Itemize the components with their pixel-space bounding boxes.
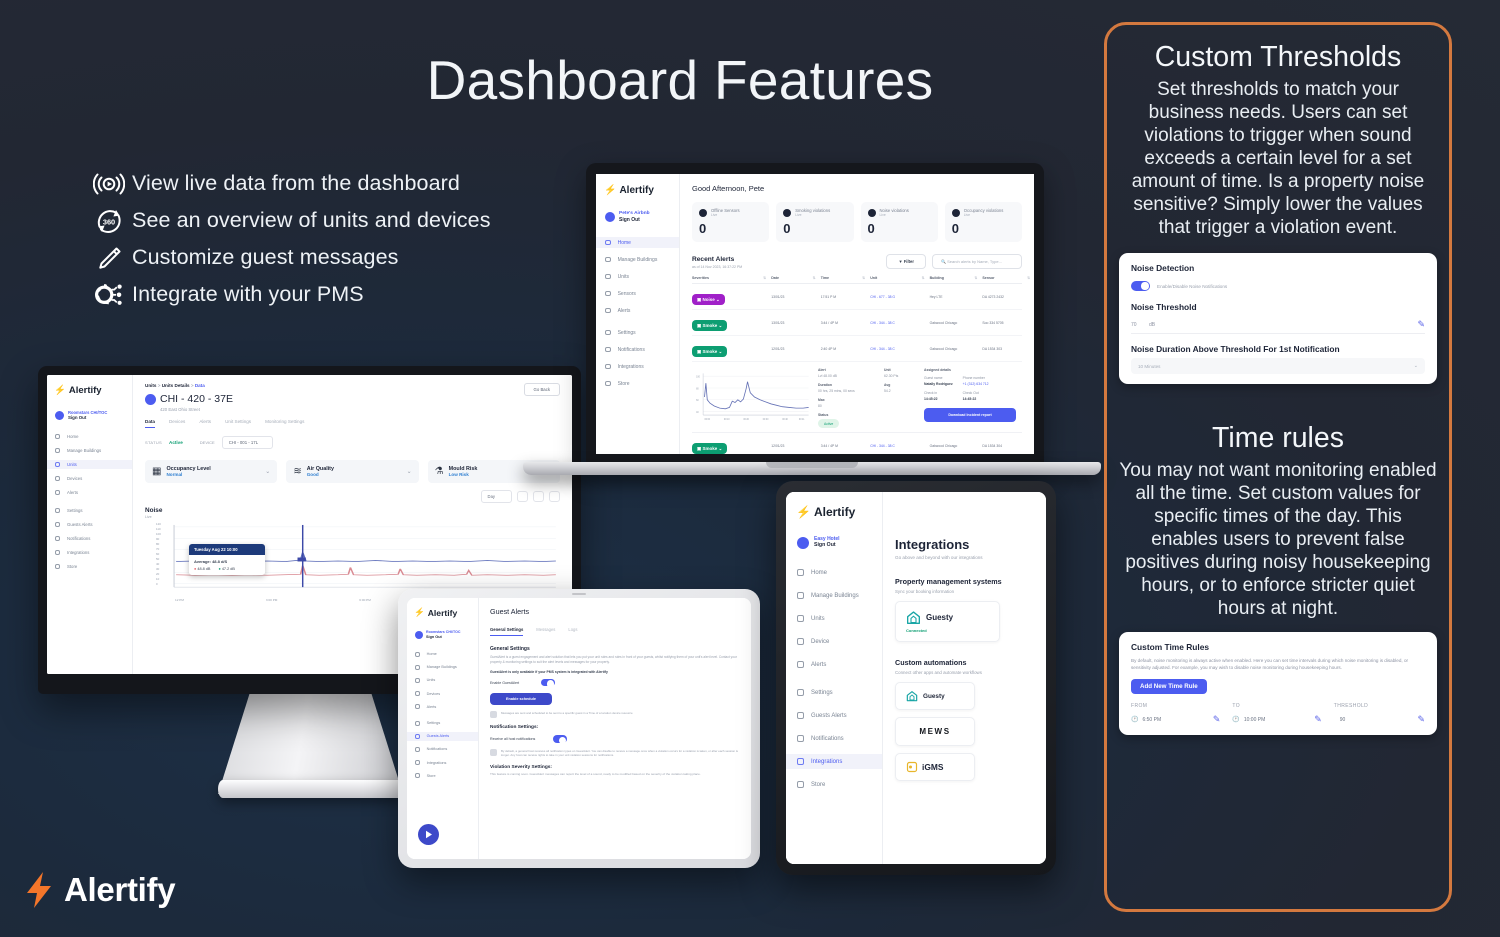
edit-threshold-row-icon[interactable]: ✎ (1417, 714, 1425, 725)
live-broadcast-icon (86, 171, 132, 197)
list-item: Customize guest messages (86, 239, 556, 276)
sign-out-link[interactable]: Sign Out (426, 635, 460, 639)
sidebar-item-units[interactable]: Units (596, 271, 679, 282)
nav-guests-alerts-icon (797, 712, 804, 719)
tab-monitoring-settings[interactable]: Monitoring Settings (265, 419, 304, 428)
sidebar-item-label: Notifications (427, 747, 448, 751)
table-row[interactable]: ▣ Smoke ⌄13/01/233:44 / 4P MCHI - 344 - … (692, 310, 1022, 336)
sort-icon[interactable]: ⇅ (974, 276, 977, 280)
sort-icon[interactable]: ⇅ (922, 276, 925, 280)
sidebar-item-notifications[interactable]: Notifications (596, 344, 679, 355)
sidebar-item-device[interactable]: Device (786, 634, 882, 649)
status-badge: ▣ Smoke ⌄ (692, 320, 727, 331)
kpi-card-occupancy-violations: Occupancy violationsLive0 (945, 202, 1022, 242)
nav-units-icon (415, 678, 420, 683)
sidebar-item-manage-buildings[interactable]: Manage Buildings (47, 446, 132, 455)
avatar (415, 631, 423, 639)
sidebar-item-manage-buildings[interactable]: Manage Buildings (786, 588, 882, 603)
device-select[interactable]: CHI - 001 - 17L (222, 436, 273, 449)
list-item-label: See an overview of units and devices (132, 208, 491, 233)
tab-general-settings[interactable]: General Settings (490, 627, 523, 636)
sidebar-item-label: Store (811, 782, 825, 788)
camera-icon (572, 593, 586, 595)
sidebar-item-manage-buildings[interactable]: Manage Buildings (407, 663, 478, 672)
unit-address: 420 East Ohio Street (160, 407, 233, 412)
metric-value: Good (307, 472, 402, 477)
sidebar-item-label: Integrations (67, 550, 89, 555)
bolt-icon: ⚡ (796, 505, 811, 519)
nav-devices-icon (55, 476, 60, 481)
kpi-card-offline-sensors: Offline SensorsLive0 (692, 202, 769, 242)
chart-tooltip: Tuesday Aug 22 10:00 Average: 48.8 d/S ●… (189, 544, 265, 575)
table-header: Severities⇅Date⇅Time⇅Unit⇅Building⇅Senso… (692, 276, 1022, 284)
section-timestamp: as of 14 Nov 2023, 16:37:22 PM (692, 265, 742, 269)
nav-integrations-icon (55, 550, 60, 555)
chart-y-axis: 1201101009080706050403020100 (156, 522, 161, 586)
nav-alerts-icon (605, 308, 611, 314)
nav-home-icon (415, 652, 420, 657)
search-input[interactable]: 🔍 Search alerts by Name, Type... (932, 254, 1022, 269)
cell-unit[interactable]: CHI - 344 - 38 C (870, 321, 929, 325)
breadcrumb-item[interactable]: Units Details (162, 383, 190, 388)
host-notifications-toggle[interactable] (553, 735, 567, 742)
sidebar-item-store[interactable]: Store (596, 378, 679, 389)
nav-alerts-icon (797, 661, 804, 668)
page-subtitle: Go above and beyond with our integration… (895, 555, 1034, 560)
list-item: Integrate with your PMS (86, 276, 556, 313)
integrations-screen-ui: ⚡ Alertify Easy Hotel Sign Out HomeManag… (786, 492, 1046, 864)
severity-heading: Violation Severity Settings: (490, 765, 740, 770)
sidebar-item-label: Manage Buildings (427, 665, 457, 669)
integration-status: Connected (906, 628, 989, 633)
info-icon (490, 749, 497, 756)
chart-title: Noise (145, 507, 560, 514)
sort-icon[interactable]: ⇅ (763, 276, 766, 280)
integration-card-mews[interactable]: MEWS (895, 717, 975, 746)
sidebar-item-settings[interactable]: Settings (596, 327, 679, 338)
noise-detection-heading: Noise Detection (1131, 263, 1425, 273)
sidebar-item-label: Notifications (67, 536, 90, 541)
nav-manage-buildings-icon (605, 257, 611, 263)
cell-time: 3:44 / 4P M (821, 321, 871, 325)
guesty-house-icon (906, 610, 921, 625)
host-notifications-label: Receive all host notifications (490, 737, 535, 741)
sidebar-item-label: Integrations (427, 761, 447, 765)
avatar (605, 212, 615, 222)
svg-text:60: 60 (696, 400, 699, 402)
section-title: Recent Alerts (692, 256, 742, 263)
nav-manage-buildings-icon (797, 592, 804, 599)
sidebar-item-alerts[interactable]: Alerts (47, 488, 132, 497)
notification-settings-heading: Notification Settings: (490, 725, 740, 730)
y-tick: 20 (156, 572, 161, 576)
sidebar-item-home[interactable]: Home (407, 650, 478, 659)
breadcrumb[interactable]: Units > Units Details > Data (145, 383, 233, 388)
sidebar-item-label: Guests Alerts (811, 713, 847, 719)
custom-time-rules-card: Custom Time Rules By default, noise moni… (1119, 632, 1437, 735)
sidebar-item-label: Settings (427, 721, 441, 725)
sidebar-item-label: Notifications (811, 736, 844, 742)
right-feature-panel: Custom Thresholds Set thresholds to matc… (1104, 22, 1452, 912)
threshold-value[interactable]: 90 (1340, 717, 1346, 723)
go-back-button[interactable]: Go Back (524, 383, 560, 396)
sidebar-item-label: Manage Buildings (67, 448, 101, 453)
metric-card-occupancy-level[interactable]: ▦Occupancy LevelNormal⌄ (145, 460, 277, 483)
sidebar-item-label: Notifications (618, 347, 645, 353)
sort-icon[interactable]: ⇅ (1027, 276, 1030, 280)
nav-units-icon (55, 462, 60, 467)
sidebar-item-label: Units (811, 616, 825, 622)
integration-name: Guesty (923, 693, 945, 700)
cell-unit[interactable]: CHI - 344 - 38 C (870, 444, 929, 448)
y-tick: 90 (156, 537, 161, 541)
brand-name: Alertify (64, 871, 175, 909)
enable-guestalert-toggle[interactable] (541, 679, 555, 686)
cell-building: Oakwood Chicago (930, 347, 983, 351)
tablet-guest-alerts-device: ⚡ Alertify Roomstars CHI/TOC Sign Out Ho… (398, 589, 760, 868)
sidebar-item-alerts[interactable]: Alerts (407, 702, 478, 711)
cell-building: Oakwood Chicago (930, 321, 983, 325)
clock-icon: 🕐 (1131, 716, 1138, 723)
sidebar-item-integrations[interactable]: Integrations (786, 754, 882, 769)
nav-guests-alerts-icon (415, 734, 420, 739)
mould-risk-icon: ⚗ (435, 466, 444, 477)
nav-units-icon (797, 615, 804, 622)
integration-card-guesty-pms[interactable]: Guesty Connected (895, 601, 1000, 642)
tab-data[interactable]: Data (145, 419, 155, 428)
sidebar-item-guests-alerts[interactable]: Guests Alerts (786, 708, 882, 723)
sidebar-item-notifications[interactable]: Notifications (786, 731, 882, 746)
list-item-label: Customize guest messages (132, 245, 399, 270)
sort-icon[interactable]: ⇅ (813, 276, 816, 280)
tooltip-high: 47.2 dB (222, 567, 235, 571)
clock-icon: 🕐 (1232, 716, 1239, 723)
kpi-card-noise-violations: Noise violationsLive0 (861, 202, 938, 242)
sort-icon[interactable]: ⇅ (862, 276, 865, 280)
cell-sensor: DA 4273 2432 (982, 295, 1034, 299)
nav-home-icon (55, 434, 60, 439)
bolt-icon (22, 870, 56, 910)
brand-name: Alertify (619, 185, 653, 196)
cell-time: 3:44 / 4P M (821, 444, 871, 448)
sign-out-link[interactable]: Sign Out (68, 415, 107, 420)
sidebar-item-settings[interactable]: Settings (407, 719, 478, 728)
sidebar-item-store[interactable]: Store (407, 771, 478, 780)
table-row[interactable]: ▣ Noise ⌄13/01/2317:51 P MCHI - 677 - 38… (692, 284, 1022, 310)
y-tick: 110 (156, 527, 161, 531)
account-name: Roomstars CHI/TOC (426, 630, 460, 635)
sidebar-item-guests-alerts[interactable]: Guests Alerts (407, 732, 478, 741)
chevron-down-icon[interactable]: ⌄ (407, 468, 412, 475)
time-rules-heading: Custom Time Rules (1131, 642, 1425, 652)
integration-name: Guesty (926, 613, 953, 622)
y-tick: 0 (156, 582, 161, 586)
status-badge: ▣ Noise ⌄ (692, 294, 725, 305)
kpi-sub: Live (964, 213, 1004, 217)
integration-card-igms[interactable]: iGMS (895, 753, 975, 781)
chart-legend: Live (145, 515, 560, 519)
chevron-down-icon: ⌄ (1414, 363, 1418, 369)
sidebar-item-label: Devices (67, 476, 82, 481)
sidebar-item-label: Alerts (67, 490, 78, 495)
sidebar-item-integrations[interactable]: Integrations (596, 361, 679, 372)
integration-name: MEWS (919, 727, 950, 736)
sidebar-item-home[interactable]: Home (47, 432, 132, 441)
sidebar-item-settings[interactable]: Settings (47, 506, 132, 515)
col-to: TO (1232, 703, 1333, 709)
nav-settings-icon (415, 721, 420, 726)
nav-alerts-icon (415, 704, 420, 709)
table-row[interactable]: ▣ Smoke ⌄12/01/233:44 / 4P MCHI - 344 - … (692, 433, 1022, 454)
calendar-icon[interactable] (517, 491, 528, 502)
sidebar-item-units[interactable]: Units (786, 611, 882, 626)
brand-name: Alertify (814, 505, 855, 519)
time-rules-body: By default, noise monitoring is always a… (1131, 657, 1425, 671)
bolt-icon: ⚡ (604, 185, 616, 196)
chevron-down-icon[interactable]: ⌄ (265, 468, 270, 475)
kpi-sub: Live (711, 213, 740, 217)
nav-integrations-icon (415, 760, 420, 765)
svg-text:360: 360 (103, 217, 115, 226)
nav-store-icon (605, 381, 611, 387)
noise-notifications-toggle[interactable] (1131, 281, 1150, 291)
edit-from-icon[interactable]: ✎ (1213, 714, 1221, 725)
kpi-value: 0 (868, 221, 931, 236)
brand-name: Alertify (69, 385, 102, 396)
noise-threshold-value[interactable]: 70 (1131, 322, 1137, 328)
sidebar-item-label: Alerts (618, 308, 631, 314)
nav-home-icon (797, 569, 804, 576)
list-item-label: Integrate with your PMS (132, 282, 364, 307)
cell-sensor: DA 1534 304 (982, 444, 1034, 448)
kpi-icon (783, 209, 791, 217)
tab-unit-settings[interactable]: Unit Settings (225, 419, 251, 428)
table-row[interactable]: ▣ Smoke ⌄12/01/232:40 4P MCHI - 344 - 38… (692, 336, 1022, 362)
metric-card-air-quality[interactable]: ≋Air QualityGood⌄ (286, 460, 418, 483)
column-header-time[interactable]: Time⇅ (821, 276, 871, 280)
occupancy-icon: ▦ (152, 466, 161, 477)
sidebar-item-label: Alerts (427, 705, 437, 709)
sidebar-item-home[interactable]: Home (596, 237, 679, 248)
svg-text:00:10: 00:10 (724, 419, 730, 421)
air-quality-icon: ≋ (293, 466, 301, 477)
unit-avatar (145, 394, 156, 405)
laptop-screen-ui: ⚡ Alertify Pete's Airbnb Sign Out HomeMa… (596, 174, 1034, 454)
sidebar-item-label: Integrations (618, 364, 644, 370)
y-tick: 30 (156, 567, 161, 571)
igms-icon (906, 761, 918, 773)
sidebar-item-devices[interactable]: Devices (47, 474, 132, 483)
sidebar-item-manage-buildings[interactable]: Manage Buildings (596, 254, 679, 265)
svg-text:00:00: 00:00 (704, 419, 710, 421)
x-tick: 3:00 PM (266, 598, 278, 602)
alert-detail-chart: 100806040 00:0000:1000:2000:3000:4000:41 (692, 367, 810, 427)
nav-alerts-icon (55, 490, 60, 495)
noise-detection-card: Noise Detection Enable/Disable Noise Not… (1119, 253, 1437, 384)
enable-schedule-button[interactable]: Enable schedule (490, 693, 552, 705)
avatar (797, 537, 809, 549)
tab-devices[interactable]: Devices (169, 419, 185, 428)
tab-logs[interactable]: Logs (568, 627, 577, 636)
sidebar-item-store[interactable]: Store (786, 777, 882, 792)
cell-unit[interactable]: CHI - 677 - 38 G (870, 295, 929, 299)
page-title: CHI - 420 - 37E (160, 393, 233, 405)
laptop-hinge-notch (766, 462, 858, 468)
enable-guestalert-label: Enable GuestAlert (490, 681, 519, 685)
sidebar-item-store[interactable]: Store (47, 562, 132, 571)
page-title: Dashboard Features (310, 48, 1050, 112)
sidebar-item-home[interactable]: Home (786, 565, 882, 580)
guest-alerts-screen-ui: ⚡ Alertify Roomstars CHI/TOC Sign Out Ho… (407, 598, 751, 859)
kpi-value: 0 (783, 221, 846, 236)
360-overview-icon: 360 (86, 207, 132, 235)
sidebar-item-sensors[interactable]: Sensors (596, 288, 679, 299)
status-badge: Active (169, 440, 183, 445)
nav-notifications-icon (605, 347, 611, 353)
tab-alerts[interactable]: Alerts (199, 419, 211, 428)
y-tick: 10 (156, 577, 161, 581)
svg-text:00:30: 00:30 (763, 419, 769, 421)
kpi-icon (699, 209, 707, 217)
sidebar-item-label: Integrations (811, 759, 842, 765)
severity-body: This feature is coming soon. GuestAlert … (490, 772, 740, 777)
sidebar-item-label: Guests Alerts (427, 734, 450, 738)
time-from-value[interactable]: 6:50 PM (1142, 717, 1161, 723)
nav-settings-icon (605, 330, 611, 336)
svg-text:80: 80 (696, 388, 699, 390)
section-body-time-rules: You may not want monitoring enabled all … (1119, 459, 1437, 620)
bolt-icon: ⚡ (414, 607, 425, 618)
sidebar-item-alerts[interactable]: Alerts (596, 305, 679, 316)
sidebar-item-label: Sensors (618, 291, 636, 297)
sidebar-item-notifications[interactable]: Notifications (407, 745, 478, 754)
breadcrumb-item[interactable]: Data (195, 383, 205, 388)
nav-settings-icon (797, 689, 804, 696)
kpi-card-smoking-violations: Smoking violationsLive0 (776, 202, 853, 242)
sidebar-item-label: Manage Buildings (618, 257, 658, 263)
cell-date: 12/01/23 (771, 347, 821, 351)
y-tick: 40 (156, 562, 161, 566)
noise-duration-select[interactable]: 10 Minutes ⌄ (1131, 358, 1425, 374)
tablet-integrations-device: ⚡ Alertify Easy Hotel Sign Out HomeManag… (776, 481, 1056, 875)
col-threshold: THRESHOLD (1334, 703, 1425, 709)
list-item-label: View live data from the dashboard (132, 171, 460, 196)
sidebar-item-label: Units (427, 678, 436, 682)
sign-out-link[interactable]: Sign Out (814, 542, 840, 548)
noise-notifications-label: Enable/Disable Noise Notifications (1157, 284, 1227, 289)
pms-note: GuestAlert is only available if your PMS… (490, 670, 740, 674)
kpi-sub: Live (880, 213, 909, 217)
sidebar-item-guests-alerts[interactable]: Guests Alerts (47, 520, 132, 529)
download-icon[interactable] (549, 491, 560, 502)
sidebar-item-integrations[interactable]: Integrations (47, 548, 132, 557)
range-select[interactable]: Day (481, 490, 512, 503)
column-header-sensor[interactable]: Sensor⇅ (982, 276, 1034, 280)
nav-devices-icon (415, 691, 420, 696)
device-label: DEVICE (200, 440, 215, 445)
sidebar-item-label: Home (67, 434, 78, 439)
sidebar-item-settings[interactable]: Settings (786, 685, 882, 700)
download-report-button[interactable]: Download Incident report (924, 408, 1016, 422)
column-header-building[interactable]: Building⇅ (930, 276, 983, 280)
sidebar-item-alerts[interactable]: Alerts (786, 657, 882, 672)
status-badge: ▣ Smoke ⌄ (692, 443, 727, 454)
integration-name: iGMS (922, 762, 943, 772)
svg-text:100: 100 (696, 377, 700, 379)
general-settings-body: GuestAlert is a guest engagement and ale… (490, 655, 740, 665)
sidebar-item-devices[interactable]: Devices (407, 689, 478, 698)
edit-threshold-icon[interactable]: ✎ (1417, 319, 1425, 330)
breadcrumb-item[interactable]: Units (145, 383, 156, 388)
svg-text:00:41: 00:41 (799, 419, 805, 421)
time-to-value[interactable]: 10:00 PM (1244, 717, 1265, 723)
section-title-time-rules: Time rules (1119, 422, 1437, 455)
column-header-unit[interactable]: Unit⇅ (870, 276, 929, 280)
refresh-icon[interactable] (533, 491, 544, 502)
nav-device-icon (797, 638, 804, 645)
sidebar-item-units[interactable]: Units (407, 676, 478, 685)
integration-card-guesty[interactable]: Guesty (895, 682, 975, 710)
pms-subheading: Sync your booking information (895, 589, 1034, 594)
tooltip-low: 48.8 dB (197, 567, 210, 571)
add-time-rule-button[interactable]: Add New Time Rule (1131, 679, 1207, 694)
sign-out-link[interactable]: Sign Out (619, 217, 650, 223)
tab-messages[interactable]: Messages (536, 627, 555, 636)
greeting: Good Afternoon, Pete (692, 184, 1022, 193)
kpi-value: 0 (699, 221, 762, 236)
col-from: FROM (1131, 703, 1232, 709)
y-tick: 80 (156, 542, 161, 546)
status-label: STATUS (145, 440, 162, 445)
general-settings-heading: General Settings (490, 646, 740, 652)
footer-brand: Alertify (22, 870, 175, 910)
brand-name: Alertify (428, 608, 458, 618)
kpi-value: 0 (952, 221, 1015, 236)
noise-threshold-heading: Noise Threshold (1131, 302, 1425, 312)
sidebar-item-label: Units (618, 274, 629, 280)
edit-to-icon[interactable]: ✎ (1314, 714, 1322, 725)
tooltip-average: Average: 48.8 d/S (194, 559, 260, 564)
sidebar-item-label: Alerts (811, 662, 826, 668)
y-tick: 60 (156, 552, 161, 556)
sidebar-item-label: Units (67, 462, 77, 467)
cell-time: 2:40 4P M (821, 347, 871, 351)
sidebar-item-units[interactable]: Units (47, 460, 132, 469)
sidebar-item-notifications[interactable]: Notifications (47, 534, 132, 543)
monitor-base (218, 780, 403, 798)
column-header-severities[interactable]: Severities⇅ (692, 276, 771, 280)
gear-integration-icon (86, 282, 132, 308)
svg-text:00:40: 00:40 (782, 419, 788, 421)
guesty-house-icon (906, 690, 918, 702)
tooltip-date: Tuesday Aug 22 10:00 (189, 544, 265, 555)
automations-subheading: Connect other apps and automate workflow… (895, 670, 1034, 675)
sidebar-item-label: Guests Alerts (67, 522, 93, 527)
column-header-date[interactable]: Date⇅ (771, 276, 821, 280)
sidebar-item-label: Home (427, 652, 437, 656)
nav-notifications-icon (55, 536, 60, 541)
play-button[interactable] (418, 824, 439, 845)
cell-unit[interactable]: CHI - 344 - 38 C (870, 347, 929, 351)
metric-value: Normal (166, 472, 260, 477)
nav-sensors-icon (605, 291, 611, 297)
filter-button[interactable]: ▼ Filter (886, 254, 926, 269)
cell-date: 13/01/23 (771, 321, 821, 325)
noise-threshold-unit: dB (1149, 322, 1155, 328)
pms-heading: Property management systems (895, 577, 1034, 586)
y-tick: 120 (156, 522, 161, 526)
sidebar-item-integrations[interactable]: Integrations (407, 758, 478, 767)
